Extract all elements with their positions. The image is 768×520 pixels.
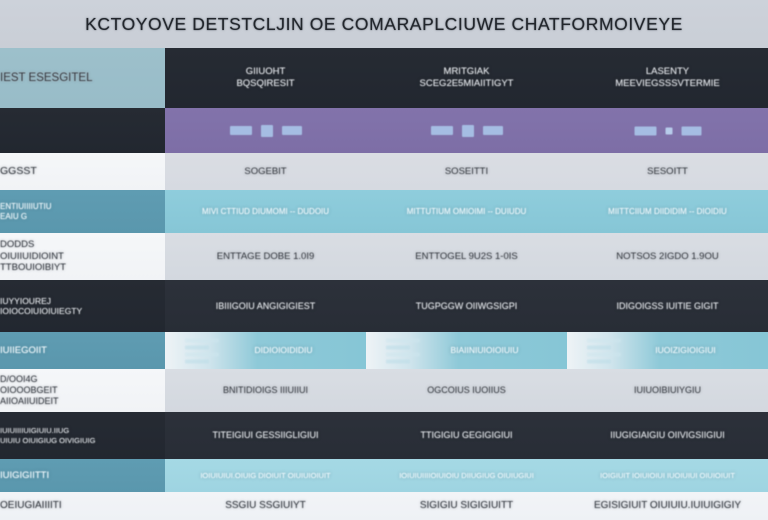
mark-block-icon bbox=[431, 126, 453, 135]
row-cell: ENTTAGE DOBE 1.0I9 bbox=[165, 233, 366, 280]
row-cell: SESOITT bbox=[567, 153, 768, 190]
row-cell[interactable]: IBIIIGOIU ANGIGIGIEST bbox=[165, 280, 366, 332]
table-header-row: IEST ESESGITEL GIIUOHT BQSQIRESIT MRITGI… bbox=[0, 48, 768, 108]
row-cell[interactable] bbox=[165, 108, 366, 153]
row-label-cell: ENTIUIIIIUTIU EAIU G bbox=[0, 190, 165, 233]
row-cell: DIDIOIOIDIDIU bbox=[165, 332, 366, 369]
faint-block-marks-icon bbox=[386, 338, 420, 363]
column-header-three[interactable]: LASENTY MEEVIEGSSSVTERMIE bbox=[567, 48, 768, 108]
mark-block-icon bbox=[681, 126, 701, 135]
column-header-two[interactable]: MRITGIAK SCEG2E5MIAIITIGYT bbox=[366, 48, 567, 108]
mark-block-icon bbox=[483, 126, 503, 135]
table-row: D/OOI4G OIOOOBGEIT AIIOAIIUIDEIT BNITIDI… bbox=[0, 369, 768, 412]
row-cell: IOIGIUIT IOIUIOIUI IUOIUIUI OIUIOIUIT bbox=[567, 459, 768, 492]
faint-block-marks-icon bbox=[185, 338, 219, 363]
row-cell: ENTTOGEL 9U2S 1-0IS bbox=[366, 233, 567, 280]
column-header-label: IEST ESESGITEL bbox=[0, 48, 165, 108]
row-label-cell: IUIIEGOIIT bbox=[0, 332, 165, 369]
row-cell[interactable]: BNITIDIOIGS IIIUIIUI bbox=[165, 369, 366, 412]
column-header-one[interactable]: GIIUOHT BQSQIRESIT bbox=[165, 48, 366, 108]
faint-block-marks-icon bbox=[587, 338, 621, 363]
mark-group bbox=[230, 125, 302, 137]
mark-square-icon bbox=[261, 125, 273, 137]
row-cell[interactable]: TTIGIGIU GEGIGIGIUI bbox=[366, 412, 567, 459]
table-row: OEIUGIAIIIITI SSGIU SSGIUIYT SIGIGIU SIG… bbox=[0, 492, 768, 520]
comparison-table: IEST ESESGITEL GIIUOHT BQSQIRESIT MRITGI… bbox=[0, 48, 768, 487]
row-cell: NOTSOS 2IGDO 1.9OU bbox=[567, 233, 768, 280]
table-row: DODDS OIUIIUIDIOINT TTBOUIOIBIYT ENTTAGE… bbox=[0, 233, 768, 280]
row-cell[interactable]: OGCOIUS IUOIIUS bbox=[366, 369, 567, 412]
mark-group bbox=[634, 126, 701, 135]
row-cell[interactable]: IIUGIGIAIGIU OIIVIGSIIGIUI bbox=[567, 412, 768, 459]
row-cell[interactable]: IUIUOIBIUIYGIU bbox=[567, 369, 768, 412]
row-label-cell: D/OOI4G OIOOOBGEIT AIIOAIIUIDEIT bbox=[0, 369, 165, 412]
row-cell: SSGIU SSGIUIYT bbox=[165, 492, 366, 520]
row-cell[interactable]: IDIGOIGSS IUITIE GIGIT bbox=[567, 280, 768, 332]
table-row: GGSST SOGEBIT SOSEITTI SESOITT bbox=[0, 153, 768, 190]
table-row: IUIIEGOIIT DIDIOIOIDIDIU BIAIINIUIOIOIUI… bbox=[0, 332, 768, 369]
table-row bbox=[0, 108, 768, 153]
mark-block-icon bbox=[634, 126, 656, 135]
row-cell: MITTUTIUM OMIOIMI -- DUIUDU bbox=[366, 190, 567, 233]
row-cell: SIGIGIU SIGIGIUITT bbox=[366, 492, 567, 520]
row-cell: IOIUIUIUI.OIUIG DIOIUIT OIUIUIOIUIT bbox=[165, 459, 366, 492]
row-label-cell: IUIUIIIIUIGIUIU.IIUG UIUIU OIUIGIUG OIVI… bbox=[0, 412, 165, 459]
mark-square-icon bbox=[665, 127, 672, 134]
row-cell: MIVI CTTIUD DIUMOMI -- DUDOIU bbox=[165, 190, 366, 233]
row-label-cell bbox=[0, 108, 165, 153]
row-cell[interactable]: TUGPGGW OIIWGSIGPI bbox=[366, 280, 567, 332]
row-cell: MIITTCIIUM DIIDIDIM -- DIOIDIU bbox=[567, 190, 768, 233]
row-label-cell: DODDS OIUIIUIDIOINT TTBOUIOIBIYT bbox=[0, 233, 165, 280]
page-title-bar: KCTOYOVE DETSTCLJIN OE COMARAPLCIUWE CHA… bbox=[0, 0, 768, 48]
row-cell[interactable]: TITEIGIUI GESSIIGLIGIUI bbox=[165, 412, 366, 459]
row-cell: EGISIGIUIT OIUIUIU.IUIUIGIGIY bbox=[567, 492, 768, 520]
row-cell[interactable] bbox=[366, 108, 567, 153]
row-label-cell: IUIGIGIITTI bbox=[0, 459, 165, 492]
row-cell: SOGEBIT bbox=[165, 153, 366, 190]
table-row: IUIGIGIITTI IOIUIUIUI.OIUIG DIOIUIT OIUI… bbox=[0, 459, 768, 492]
table-row: IUIUIIIIUIGIUIU.IIUG UIUIU OIUIGIUG OIVI… bbox=[0, 412, 768, 459]
row-label-cell: IUYYIOUREJ IOIOCOIUIOIUIEGTY bbox=[0, 280, 165, 332]
page-title: KCTOYOVE DETSTCLJIN OE COMARAPLCIUWE CHA… bbox=[85, 14, 683, 35]
table-row: IUYYIOUREJ IOIOCOIUIOIUIEGTY IBIIIGOIU A… bbox=[0, 280, 768, 332]
row-cell: SOSEITTI bbox=[366, 153, 567, 190]
mark-block-icon bbox=[282, 126, 302, 135]
comparison-table-page: KCTOYOVE DETSTCLJIN OE COMARAPLCIUWE CHA… bbox=[0, 0, 768, 512]
row-cell: BIAIINIUIOIOIUIU bbox=[366, 332, 567, 369]
row-cell: IOIUIUIIIIOIUIOIU DIIUGIUG OIUIUGIUI bbox=[366, 459, 567, 492]
row-cell: IUOIZIGIOIGIUI bbox=[567, 332, 768, 369]
row-label-cell: OEIUGIAIIIITI bbox=[0, 492, 165, 520]
mark-block-icon bbox=[230, 126, 252, 135]
row-cell[interactable] bbox=[567, 108, 768, 153]
table-row: ENTIUIIIIUTIU EAIU G MIVI CTTIUD DIUMOMI… bbox=[0, 190, 768, 233]
row-label-cell: GGSST bbox=[0, 153, 165, 190]
mark-square-icon bbox=[462, 125, 474, 137]
mark-group bbox=[431, 125, 503, 137]
